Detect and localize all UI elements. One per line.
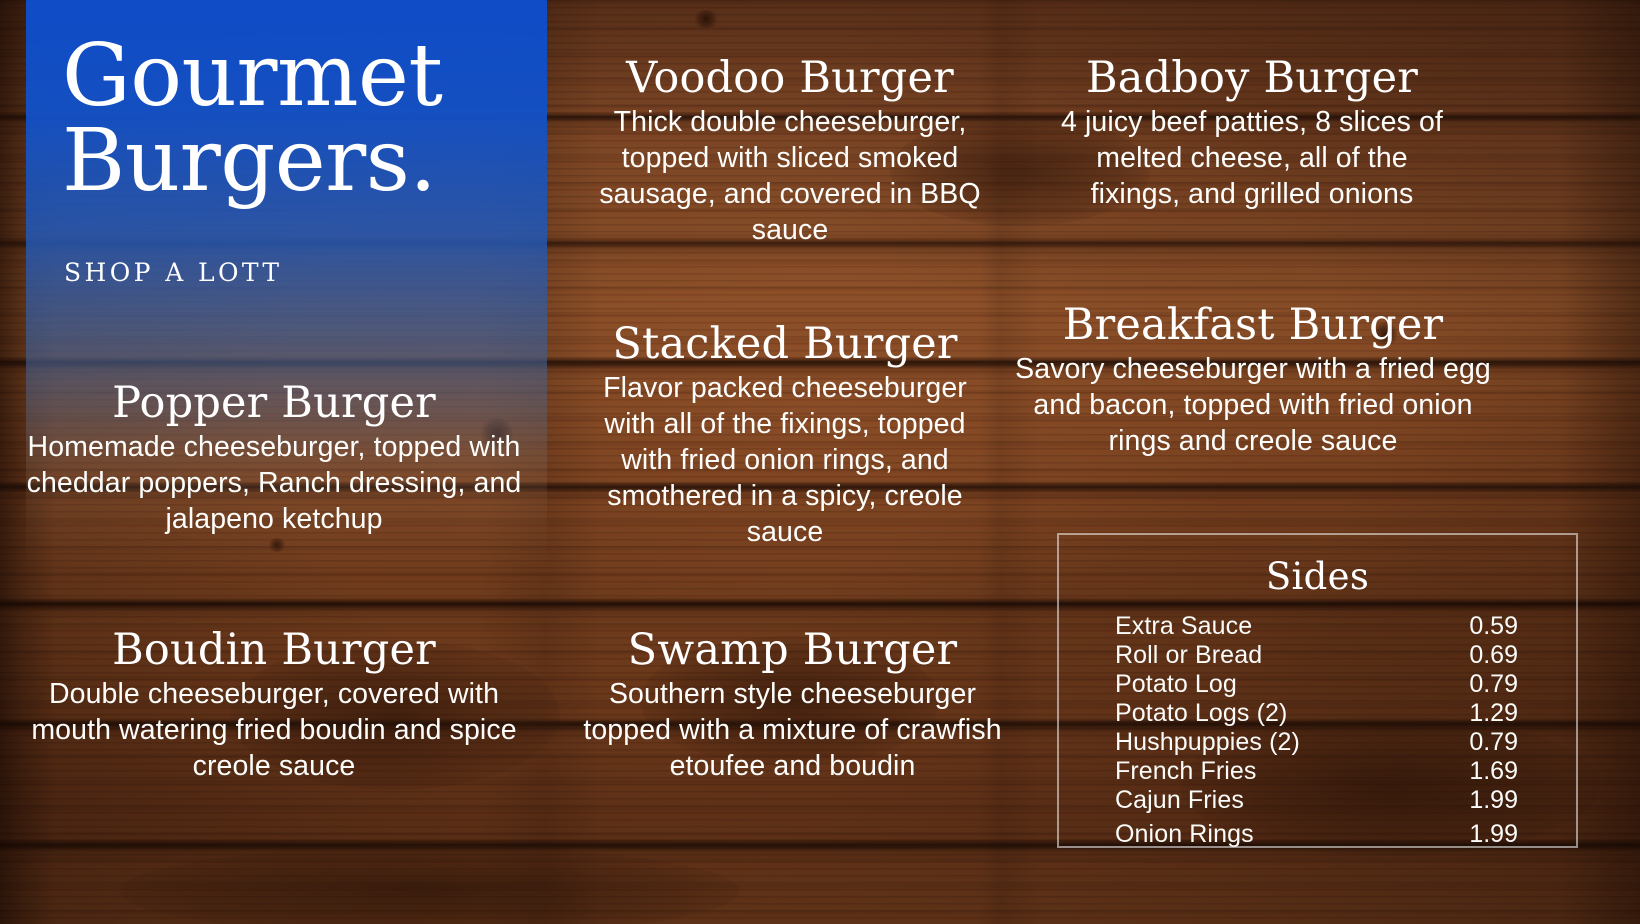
- menu-item-description: 4 juicy beef patties, 8 slices of melted…: [1042, 104, 1462, 213]
- sides-row: Potato Log0.79: [1115, 670, 1518, 699]
- menu-item-title: Stacked Burger: [560, 322, 1010, 367]
- page-subtitle: SHOP A LOTT: [64, 258, 283, 287]
- menu-item-title: Popper Burger: [14, 381, 534, 426]
- sides-row: Potato Logs (2)1.29: [1115, 699, 1518, 728]
- page-title-line-2: Burgers.: [62, 119, 532, 204]
- menu-item-title: Swamp Burger: [570, 628, 1015, 673]
- sides-item-name: Potato Logs (2): [1115, 699, 1287, 728]
- menu-board: Gourmet Burgers. SHOP A LOTT Popper Burg…: [0, 0, 1640, 924]
- sides-row: Extra Sauce0.59: [1115, 612, 1518, 641]
- menu-item-title: Breakfast Burger: [1010, 303, 1496, 348]
- sides-item-name: Potato Log: [1115, 670, 1237, 699]
- sides-item-price: 1.99: [1469, 786, 1518, 815]
- menu-item-title: Boudin Burger: [14, 628, 534, 673]
- sides-list: Extra Sauce0.59Roll or Bread0.69Potato L…: [1059, 612, 1576, 844]
- sides-item-price: 1.99: [1469, 820, 1518, 849]
- sides-item-price: 1.29: [1469, 699, 1518, 728]
- menu-item-description: Southern style cheeseburger topped with …: [570, 676, 1015, 785]
- sides-row: Onion Rings1.99: [1115, 820, 1518, 849]
- sides-item-name: Onion Rings: [1115, 820, 1254, 849]
- sides-item-price: 0.79: [1469, 670, 1518, 699]
- sides-item-name: French Fries: [1115, 757, 1257, 786]
- menu-item-description: Homemade cheeseburger, topped with chedd…: [14, 429, 534, 538]
- menu-item-title: Badboy Burger: [1042, 56, 1462, 101]
- page-title: Gourmet Burgers.: [62, 34, 532, 204]
- sides-row: Hushpuppies (2)0.79: [1115, 728, 1518, 757]
- menu-item-popper-burger: Popper Burger Homemade cheeseburger, top…: [14, 381, 534, 537]
- menu-item-voodoo-burger: Voodoo Burger Thick double cheeseburger,…: [570, 56, 1010, 248]
- sides-row: Roll or Bread0.69: [1115, 641, 1518, 670]
- menu-item-stacked-burger: Stacked Burger Flavor packed cheeseburge…: [560, 322, 1010, 551]
- menu-item-title: Voodoo Burger: [570, 56, 1010, 101]
- sides-item-price: 0.79: [1469, 728, 1518, 757]
- menu-item-boudin-burger: Boudin Burger Double cheeseburger, cover…: [14, 628, 534, 784]
- sides-item-name: Hushpuppies (2): [1115, 728, 1300, 757]
- sides-row: French Fries1.69: [1115, 757, 1518, 786]
- sides-item-name: Extra Sauce: [1115, 612, 1252, 641]
- menu-item-badboy-burger: Badboy Burger 4 juicy beef patties, 8 sl…: [1042, 56, 1462, 212]
- menu-item-swamp-burger: Swamp Burger Southern style cheeseburger…: [570, 628, 1015, 784]
- menu-item-breakfast-burger: Breakfast Burger Savory cheeseburger wit…: [1010, 303, 1496, 459]
- menu-item-description: Savory cheeseburger with a fried egg and…: [1010, 351, 1496, 460]
- sides-item-price: 0.59: [1469, 612, 1518, 641]
- sides-item-price: 1.69: [1469, 757, 1518, 786]
- sides-panel: Sides Extra Sauce0.59Roll or Bread0.69Po…: [1057, 533, 1578, 848]
- sides-row: Cajun Fries1.99: [1115, 786, 1518, 815]
- sides-panel-title: Sides: [1059, 555, 1576, 598]
- page-title-line-1: Gourmet: [62, 34, 532, 119]
- menu-item-description: Double cheeseburger, covered with mouth …: [14, 676, 534, 785]
- sides-item-name: Roll or Bread: [1115, 641, 1262, 670]
- menu-item-description: Flavor packed cheeseburger with all of t…: [560, 370, 1010, 551]
- menu-item-description: Thick double cheeseburger, topped with s…: [570, 104, 1010, 249]
- sides-item-price: 0.69: [1469, 641, 1518, 670]
- sides-item-name: Cajun Fries: [1115, 786, 1244, 815]
